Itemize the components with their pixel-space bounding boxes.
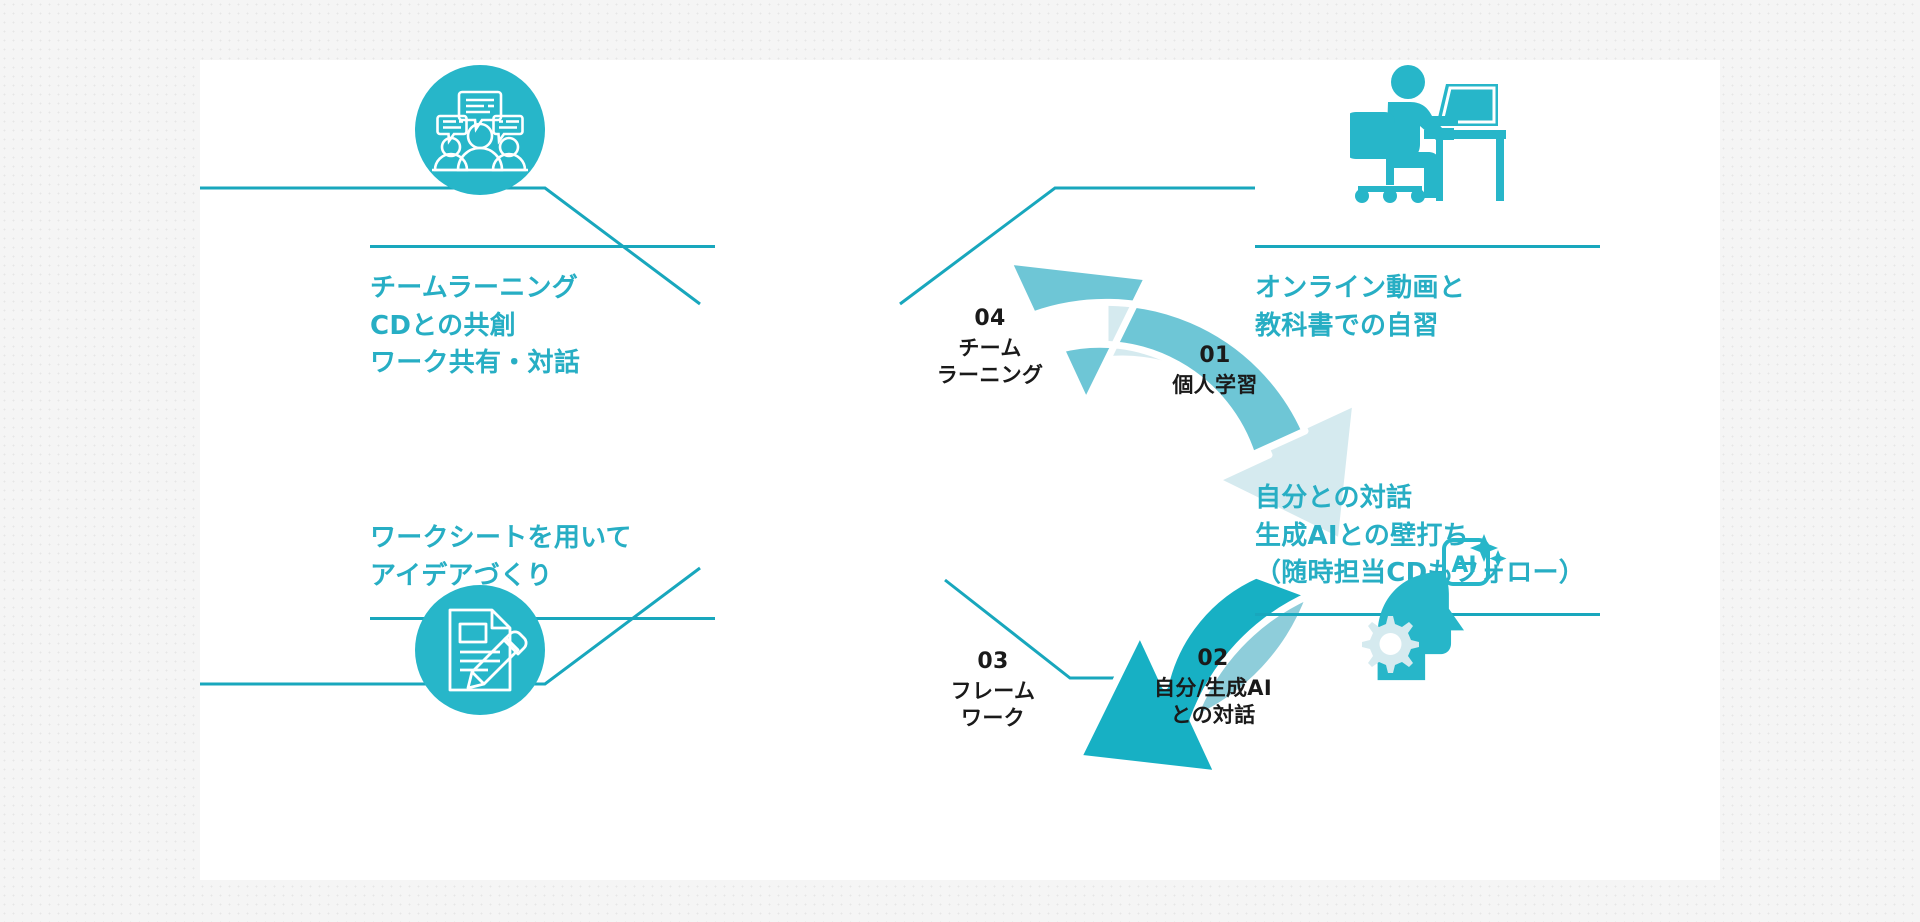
callout-top-right-text: オンライン動画と 教科書での自習 — [1255, 270, 1600, 345]
worksheet-pencil-icon — [410, 580, 550, 720]
callout-rule — [1255, 245, 1600, 248]
callout-top-left-text: チームラーニング CDとの共創 ワーク共有・対話 — [370, 270, 715, 383]
callout-rule — [370, 245, 715, 248]
team-discussion-icon — [410, 60, 550, 200]
diagram-card: 01 個人学習 02 自分/生成AI との対話 03 フレーム ワーク 04 チ… — [200, 60, 1720, 880]
callout-top-right: オンライン動画と 教科書での自習 — [1255, 245, 1600, 345]
callout-top-left: チームラーニング CDとの共創 ワーク共有・対話 — [370, 245, 715, 383]
person-at-desk-icon — [1350, 60, 1510, 205]
ai-head-gear-icon: AI — [1348, 530, 1513, 685]
ai-badge-label: AI — [1451, 553, 1476, 578]
